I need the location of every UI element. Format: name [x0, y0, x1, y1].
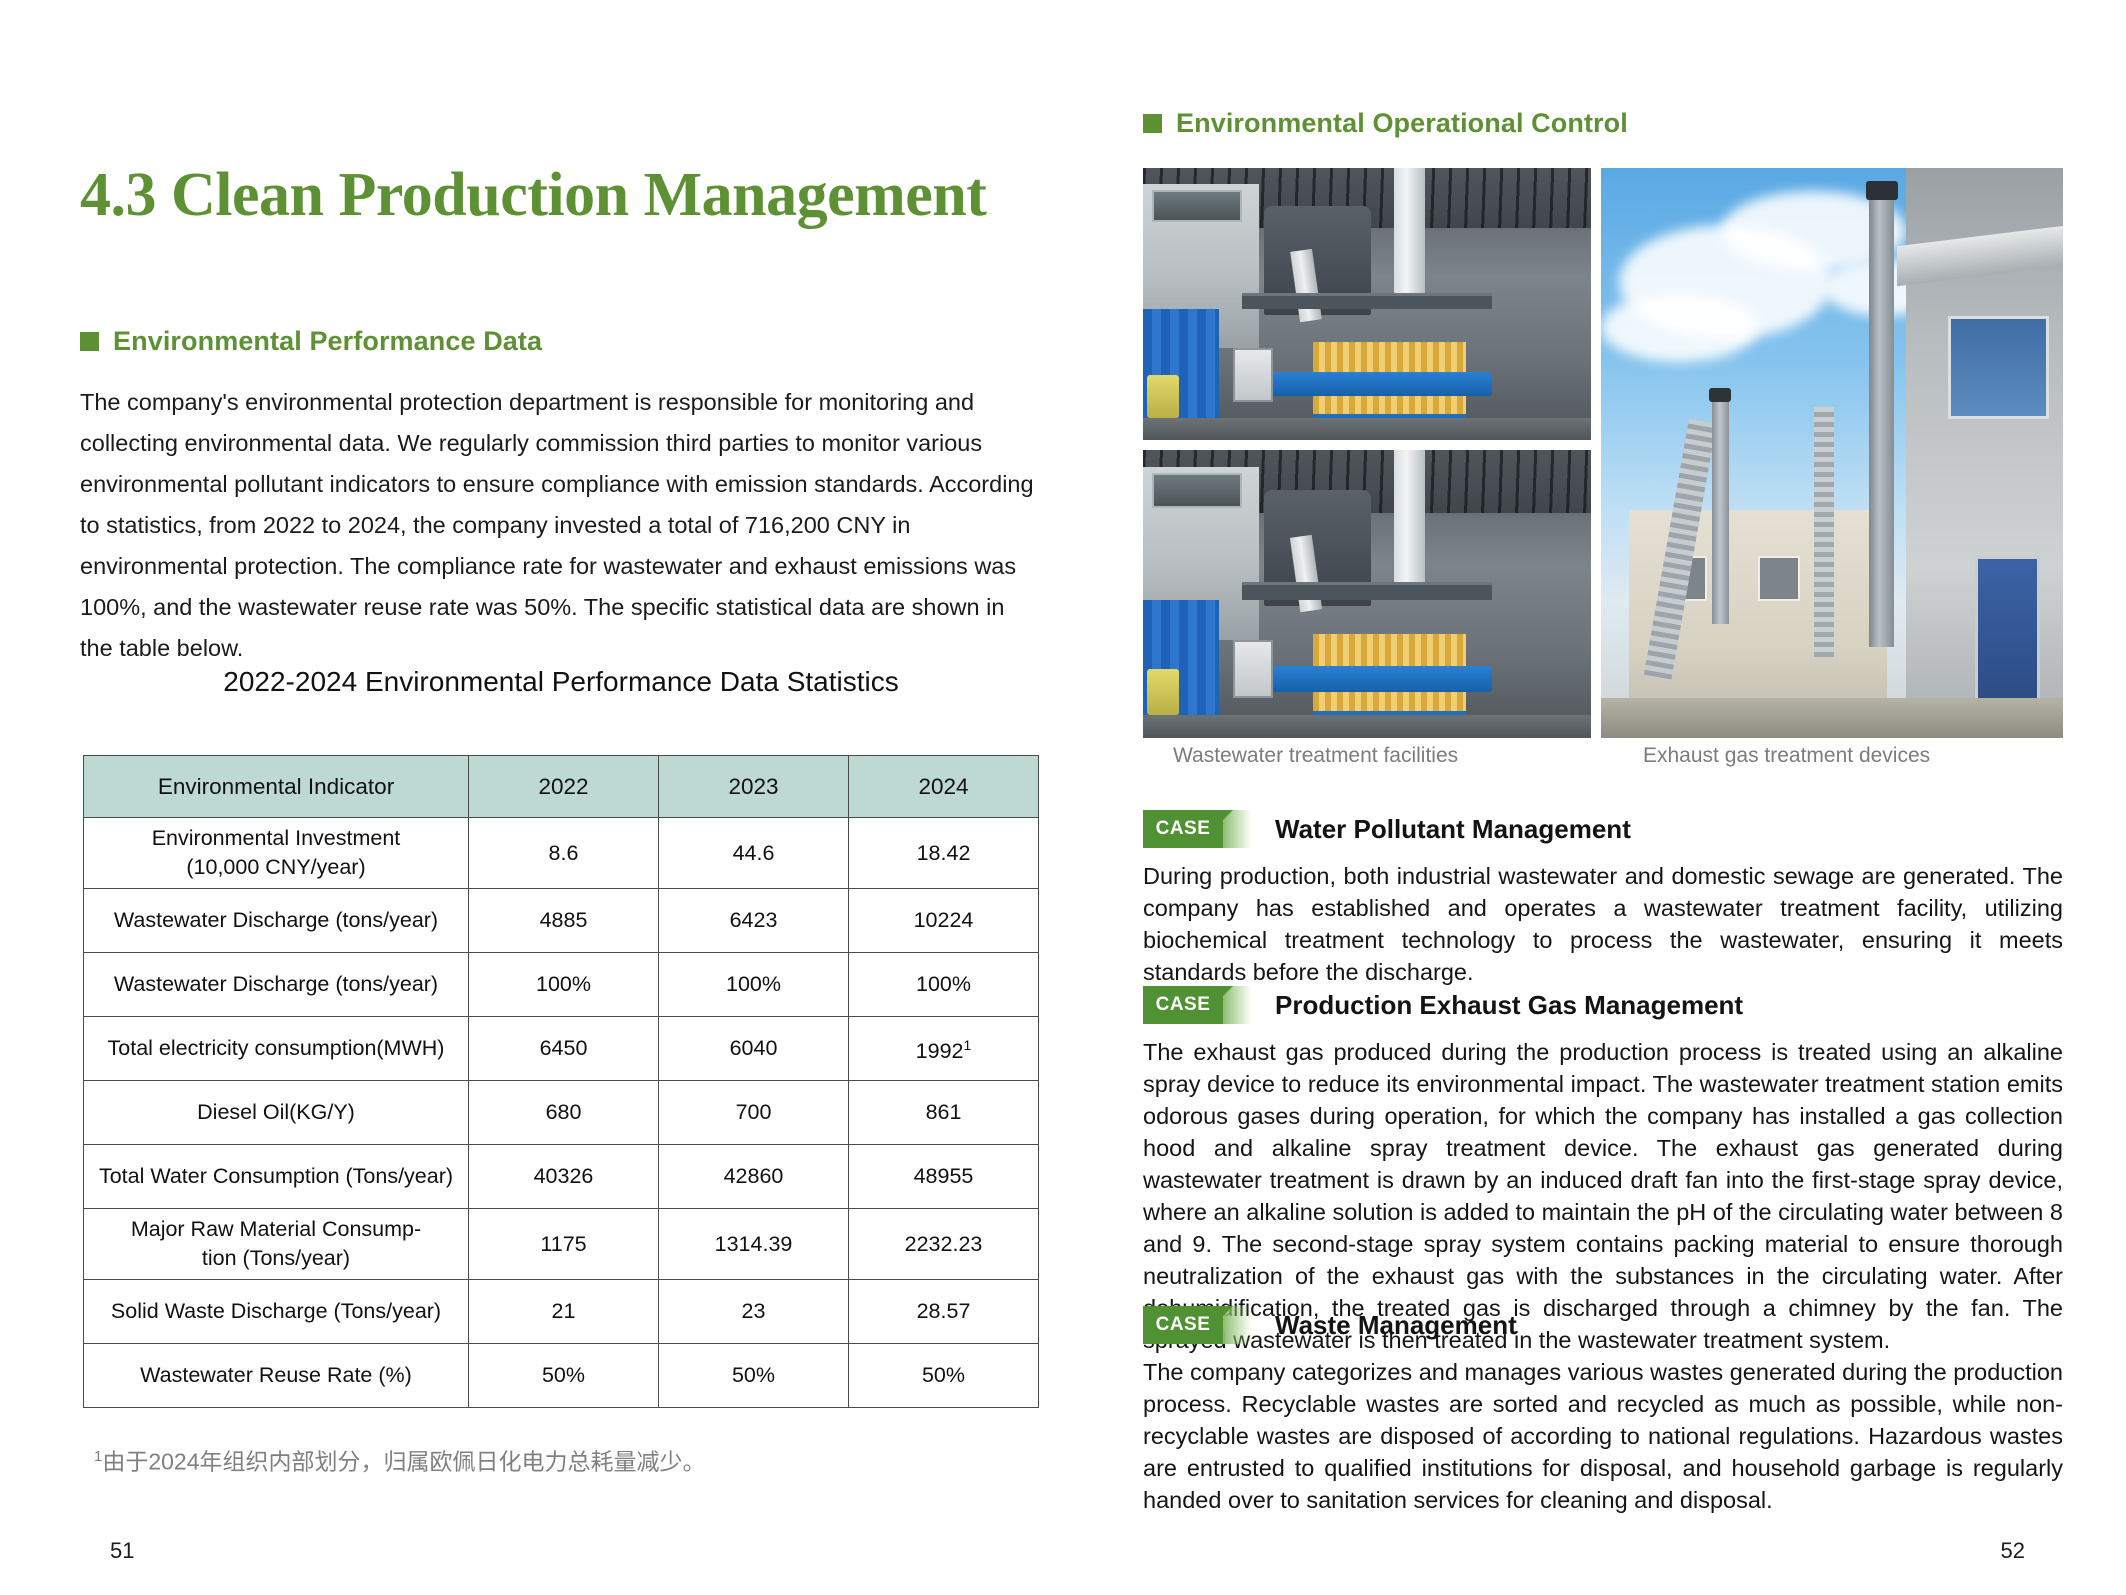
- cell-2022: 21: [469, 1280, 659, 1344]
- cell-2022: 1175: [469, 1209, 659, 1280]
- cell-2023: 42860: [659, 1145, 849, 1209]
- cell-2024: 861: [849, 1081, 1039, 1145]
- case-title: Waste Management: [1275, 1310, 1517, 1341]
- caption-wastewater: Wastewater treatment facilities: [1173, 744, 1458, 768]
- caption-exhaust: Exhaust gas treatment devices: [1643, 744, 1930, 768]
- case-badge: CASE: [1143, 1306, 1223, 1344]
- case-title: Production Exhaust Gas Management: [1275, 990, 1743, 1021]
- cell-2024: 100%: [849, 953, 1039, 1017]
- case-badge: CASE: [1143, 986, 1223, 1024]
- column-header-indicator: Environmental Indicator: [84, 756, 469, 818]
- case-badge-label: CASE: [1156, 818, 1211, 840]
- cell-2024: 50%: [849, 1344, 1039, 1408]
- footnote-text: 由于2024年组织内部划分，归属欧佩日化电力总耗量减少。: [102, 1449, 705, 1475]
- cell-indicator: Wastewater Reuse Rate (%): [84, 1344, 469, 1408]
- case-block-production-exhaust-gas-management: CASE Production Exhaust Gas Management T…: [1143, 986, 2063, 1356]
- table-row: Wastewater Discharge (tons/year)100%100%…: [84, 953, 1039, 1017]
- cell-2023: 700: [659, 1081, 849, 1145]
- column-header-2022: 2022: [469, 756, 659, 818]
- cell-indicator: Wastewater Discharge (tons/year): [84, 953, 469, 1017]
- table-row: Total electricity consumption(MWH)645060…: [84, 1017, 1039, 1081]
- cell-2022: 680: [469, 1081, 659, 1145]
- photo-captions: Wastewater treatment facilities Exhaust …: [1143, 744, 2063, 774]
- cell-2022: 6450: [469, 1017, 659, 1081]
- section-heading-label: Environmental Performance Data: [113, 326, 542, 357]
- cell-indicator: Total Water Consumption (Tons/year): [84, 1145, 469, 1209]
- cell-2023: 23: [659, 1280, 849, 1344]
- photo-wastewater-treatment-bottom: [1143, 450, 1591, 738]
- table-row: Diesel Oil(KG/Y)680700861: [84, 1081, 1039, 1145]
- column-header-2023: 2023: [659, 756, 849, 818]
- page-number-left: 51: [110, 1538, 134, 1564]
- cell-indicator: Wastewater Discharge (tons/year): [84, 889, 469, 953]
- square-bullet-icon: [80, 332, 99, 351]
- cell-2023: 50%: [659, 1344, 849, 1408]
- cell-indicator: Total electricity consumption(MWH): [84, 1017, 469, 1081]
- intro-paragraph: The company's environmental protection d…: [80, 382, 1042, 669]
- cell-2023: 100%: [659, 953, 849, 1017]
- case-title: Water Pollutant Management: [1275, 814, 1631, 845]
- photo-exhaust-gas-devices: [1601, 168, 2063, 738]
- cell-indicator: Diesel Oil(KG/Y): [84, 1081, 469, 1145]
- cell-2024: 19921: [849, 1017, 1039, 1081]
- cell-footnote-marker: 1: [964, 1037, 972, 1053]
- environmental-performance-table: Environmental Indicator 2022 2023 2024 E…: [83, 755, 1039, 1408]
- cell-2022: 8.6: [469, 818, 659, 889]
- table-row: Environmental Investment(10,000 CNY/year…: [84, 818, 1039, 889]
- table-row: Wastewater Reuse Rate (%)50%50%50%: [84, 1344, 1039, 1408]
- table-body: Environmental Investment(10,000 CNY/year…: [84, 818, 1039, 1408]
- cell-2024: 18.42: [849, 818, 1039, 889]
- section-heading-label: Environmental Operational Control: [1176, 108, 1628, 139]
- cell-2022: 100%: [469, 953, 659, 1017]
- cell-indicator: Environmental Investment(10,000 CNY/year…: [84, 818, 469, 889]
- case-badge-label: CASE: [1156, 994, 1211, 1016]
- cell-2024: 10224: [849, 889, 1039, 953]
- case-badge: CASE: [1143, 810, 1223, 848]
- square-bullet-icon: [1143, 114, 1162, 133]
- cell-2024: 28.57: [849, 1280, 1039, 1344]
- cell-indicator: Major Raw Material Consump-tion (Tons/ye…: [84, 1209, 469, 1280]
- case-block-waste-management: CASE Waste Management The company catego…: [1143, 1306, 2063, 1516]
- column-header-2024: 2024: [849, 756, 1039, 818]
- cell-2023: 6423: [659, 889, 849, 953]
- cell-2022: 40326: [469, 1145, 659, 1209]
- case-header: CASE Production Exhaust Gas Management: [1143, 986, 2063, 1024]
- cell-2022: 50%: [469, 1344, 659, 1408]
- cell-2024: 48955: [849, 1145, 1039, 1209]
- table-header-row: Environmental Indicator 2022 2023 2024: [84, 756, 1039, 818]
- photo-wastewater-treatment-top: [1143, 168, 1591, 440]
- cell-2023: 6040: [659, 1017, 849, 1081]
- case-header: CASE Water Pollutant Management: [1143, 810, 2063, 848]
- page-title: 4.3 Clean Production Management: [80, 160, 986, 231]
- cell-indicator: Solid Waste Discharge (Tons/year): [84, 1280, 469, 1344]
- case-header: CASE Waste Management: [1143, 1306, 2063, 1344]
- section-heading-environmental-operational-control: Environmental Operational Control: [1143, 108, 1628, 139]
- case-body: The company categorizes and manages vari…: [1143, 1356, 2063, 1516]
- table-footnote: 1由于2024年组织内部划分，归属欧佩日化电力总耗量减少。: [94, 1440, 706, 1479]
- page-number-right: 52: [2001, 1538, 2025, 1564]
- case-block-water-pollutant-management: CASE Water Pollutant Management During p…: [1143, 810, 2063, 988]
- right-page: Environmental Operational Control: [1143, 0, 2063, 1595]
- document-spread: 4.3 Clean Production Management Environm…: [0, 0, 2126, 1595]
- table-row: Major Raw Material Consump-tion (Tons/ye…: [84, 1209, 1039, 1280]
- table-row: Total Water Consumption (Tons/year)40326…: [84, 1145, 1039, 1209]
- case-body: During production, both industrial waste…: [1143, 860, 2063, 988]
- case-badge-label: CASE: [1156, 1314, 1211, 1336]
- cell-2023: 44.6: [659, 818, 849, 889]
- table-caption: 2022-2024 Environmental Performance Data…: [80, 666, 1042, 698]
- left-page: 4.3 Clean Production Management Environm…: [80, 0, 1040, 1595]
- cell-2023: 1314.39: [659, 1209, 849, 1280]
- cell-2022: 4885: [469, 889, 659, 953]
- cell-2024: 2232.23: [849, 1209, 1039, 1280]
- section-heading-environmental-performance-data: Environmental Performance Data: [80, 326, 542, 357]
- table-row: Wastewater Discharge (tons/year)48856423…: [84, 889, 1039, 953]
- table-row: Solid Waste Discharge (Tons/year)212328.…: [84, 1280, 1039, 1344]
- photo-collage: [1143, 168, 2063, 738]
